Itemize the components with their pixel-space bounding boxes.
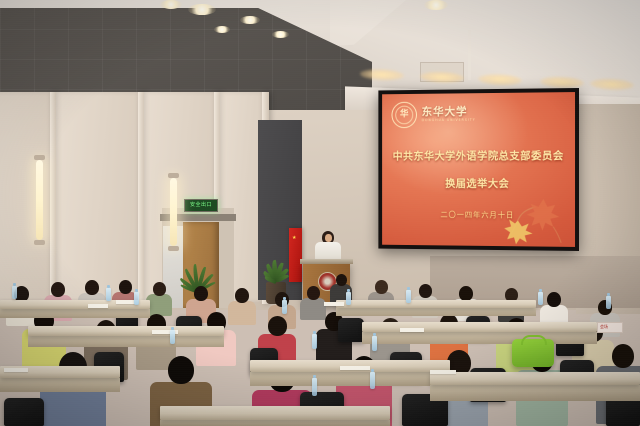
projection-screen-frame: 华 东华大学 DONGHUA UNIVERSITY 中共东华大学外语学院总支部委… bbox=[378, 88, 579, 251]
desk-front-panel bbox=[160, 420, 390, 426]
person-head bbox=[419, 284, 432, 298]
soffit-light bbox=[478, 73, 522, 86]
person-head bbox=[307, 286, 320, 300]
strip-light-cap bbox=[34, 155, 45, 160]
person-head bbox=[268, 316, 287, 336]
downlight bbox=[214, 26, 230, 33]
desk-front-panel bbox=[250, 372, 450, 386]
water-bottle bbox=[606, 296, 611, 309]
desk-front-panel bbox=[28, 336, 224, 347]
water-bottle bbox=[170, 330, 175, 344]
person-head bbox=[51, 282, 65, 297]
downlight bbox=[272, 31, 289, 38]
water-bottle bbox=[372, 336, 377, 351]
wall-panel bbox=[0, 92, 54, 302]
wall-strip-light bbox=[36, 160, 43, 240]
strip-light-cap bbox=[34, 240, 45, 245]
desk-front-panel bbox=[0, 378, 120, 392]
slide-title-line-2: 换届选举大会 bbox=[382, 176, 575, 191]
person-head bbox=[235, 288, 249, 303]
handout-paper bbox=[400, 328, 424, 332]
seal-glyph: 华 bbox=[400, 111, 409, 120]
desk-surface bbox=[28, 326, 224, 336]
desk-surface bbox=[362, 322, 597, 332]
desk-front-panel bbox=[362, 332, 597, 344]
soffit-light bbox=[420, 71, 464, 84]
handout-paper bbox=[340, 366, 370, 370]
exit-sign: 安全出口 bbox=[184, 199, 218, 212]
desk-surface bbox=[430, 372, 640, 385]
water-bottle bbox=[134, 292, 139, 305]
soffit-light bbox=[360, 68, 404, 81]
water-bottle bbox=[406, 290, 411, 303]
speaker-face bbox=[325, 234, 332, 242]
water-bottle bbox=[12, 286, 17, 299]
downlight bbox=[240, 16, 260, 24]
university-name-en: DONGHUA UNIVERSITY bbox=[422, 119, 476, 123]
person-head bbox=[547, 292, 561, 307]
university-name-block: 东华大学 DONGHUA UNIVERSITY bbox=[422, 106, 476, 122]
university-name-cn: 东华大学 bbox=[422, 106, 476, 117]
university-seal-icon: 华 bbox=[391, 102, 416, 129]
podium-top bbox=[300, 259, 353, 264]
downlight bbox=[160, 0, 182, 9]
handout-paper bbox=[4, 368, 28, 372]
handout-paper bbox=[324, 302, 344, 306]
desk-front-panel bbox=[430, 385, 640, 401]
desk-surface bbox=[336, 300, 536, 308]
strip-light-cap bbox=[168, 173, 179, 178]
table-sign-label: 会场 bbox=[600, 324, 608, 330]
person-torso bbox=[300, 298, 326, 320]
person-head bbox=[612, 344, 634, 368]
exit-sign-label: 安全出口 bbox=[190, 203, 212, 208]
water-bottle bbox=[346, 292, 351, 305]
person-head bbox=[153, 282, 166, 296]
person-head bbox=[459, 286, 473, 301]
green-shoulder-bag bbox=[512, 339, 554, 367]
desk-surface bbox=[160, 406, 390, 420]
handout-paper bbox=[430, 370, 456, 374]
soffit-light bbox=[590, 78, 634, 91]
strip-light-cap bbox=[168, 246, 179, 251]
desk-front-panel bbox=[336, 308, 536, 316]
water-bottle bbox=[538, 292, 543, 305]
meeting-hall-photo: 安全出口 华 东华大学 DONGHUA UNIVERSITY 中共东华大学外语学… bbox=[0, 0, 640, 426]
person-head bbox=[119, 280, 132, 294]
water-bottle bbox=[106, 288, 111, 301]
soffit-light bbox=[540, 76, 584, 89]
water-bottle bbox=[312, 334, 317, 349]
conference-chair bbox=[338, 318, 364, 342]
person-head bbox=[336, 274, 347, 286]
wall-strip-light bbox=[170, 178, 177, 246]
person-torso bbox=[228, 301, 256, 325]
downlight bbox=[188, 4, 216, 15]
water-bottle bbox=[282, 300, 287, 314]
projection-screen: 华 东华大学 DONGHUA UNIVERSITY 中共东华大学外语学院总支部委… bbox=[382, 92, 575, 247]
slide-title-line-1: 中共东华大学外语学院总支部委员会 bbox=[382, 148, 575, 163]
person-head bbox=[194, 286, 208, 301]
person-head bbox=[168, 356, 194, 384]
water-bottle bbox=[370, 372, 375, 389]
desk-front-panel bbox=[0, 309, 150, 318]
person-head bbox=[375, 280, 388, 294]
wall-panel bbox=[56, 92, 142, 302]
flag-star-icon: ★ bbox=[292, 236, 296, 241]
conference-chair bbox=[4, 398, 44, 426]
maple-leaf-icon bbox=[500, 193, 569, 245]
downlight bbox=[424, 0, 448, 10]
handout-paper bbox=[88, 304, 108, 308]
university-logo: 华 东华大学 DONGHUA UNIVERSITY bbox=[391, 101, 475, 128]
person-head bbox=[85, 280, 99, 295]
water-bottle bbox=[312, 378, 317, 396]
table-sign: 会场 bbox=[597, 322, 623, 333]
